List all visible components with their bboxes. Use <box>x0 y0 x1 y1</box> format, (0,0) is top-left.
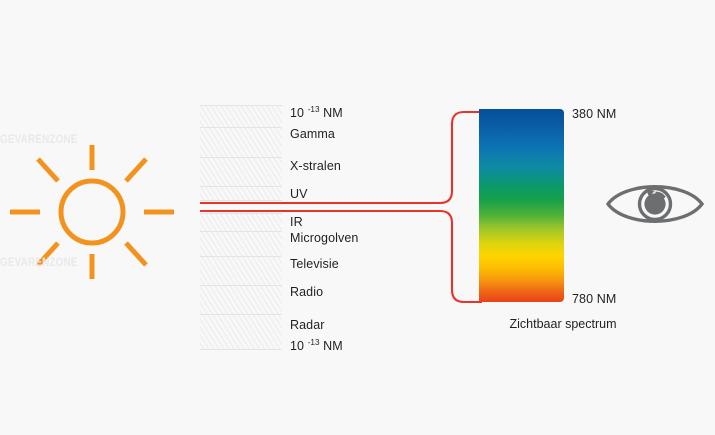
wavelength-label-bottom: 780 NM <box>572 292 616 306</box>
eye-icon <box>605 178 705 230</box>
danger-zone-label-upper: GEVARENZONE <box>0 134 79 146</box>
wavelength-label-top: 380 NM <box>572 107 616 121</box>
band-scale-unit-lower: NM <box>320 339 343 353</box>
band-scale-mantissa-lower: 10 <box>290 339 308 353</box>
danger-zone-label-lower: GEVARENZONE <box>0 257 79 269</box>
band-label-radar: Radar <box>290 318 325 332</box>
uv-ir-bracket <box>190 98 500 313</box>
band-scale-exponent-lower: -13 <box>308 338 320 347</box>
visible-spectrum-caption: Zichtbaar spectrum <box>479 317 647 331</box>
diagram-canvas: GEVARENZONE GEVARENZONE 10 -13 NM Gamma … <box>0 0 715 435</box>
band-label-radar-scale: 10 -13 NM <box>290 338 343 353</box>
visible-spectrum-bar <box>479 109 564 302</box>
